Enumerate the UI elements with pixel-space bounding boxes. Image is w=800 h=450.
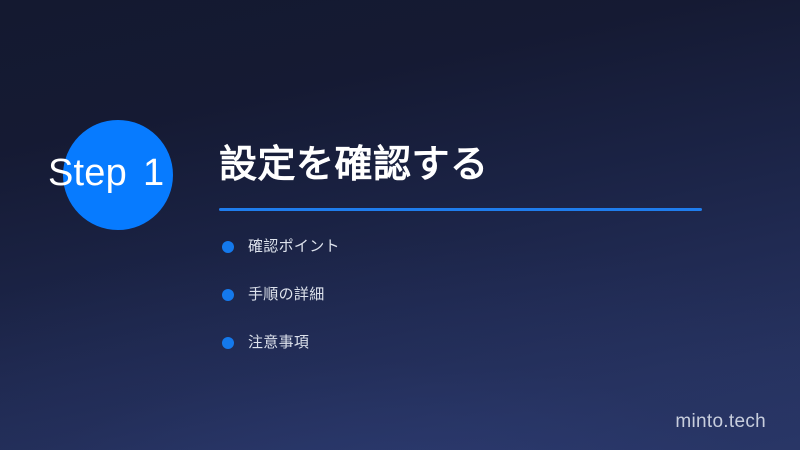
bullet-dot-icon (222, 241, 234, 253)
page-title: 設定を確認する (219, 138, 739, 192)
title-divider (219, 208, 702, 211)
list-item: 確認ポイント (222, 236, 340, 258)
list-item-label: 手順の詳細 (248, 284, 325, 306)
list-item: 注意事項 (222, 332, 340, 354)
bullet-dot-icon (222, 289, 234, 301)
list-item: 手順の詳細 (222, 284, 340, 306)
list-item-label: 注意事項 (248, 332, 309, 354)
step-label: Step 1 (48, 152, 164, 194)
slide-canvas: Step 1 設定を確認する 確認ポイント 手順の詳細 注意事項 minto.t… (0, 0, 800, 450)
watermark: minto.tech (675, 411, 766, 433)
step-number: 1 (143, 152, 164, 194)
step-word: Step (48, 152, 127, 194)
bullet-list: 確認ポイント 手順の詳細 注意事項 (222, 236, 340, 354)
bullet-dot-icon (222, 337, 234, 349)
list-item-label: 確認ポイント (248, 236, 340, 258)
slide-content: 設定を確認する (219, 138, 739, 211)
